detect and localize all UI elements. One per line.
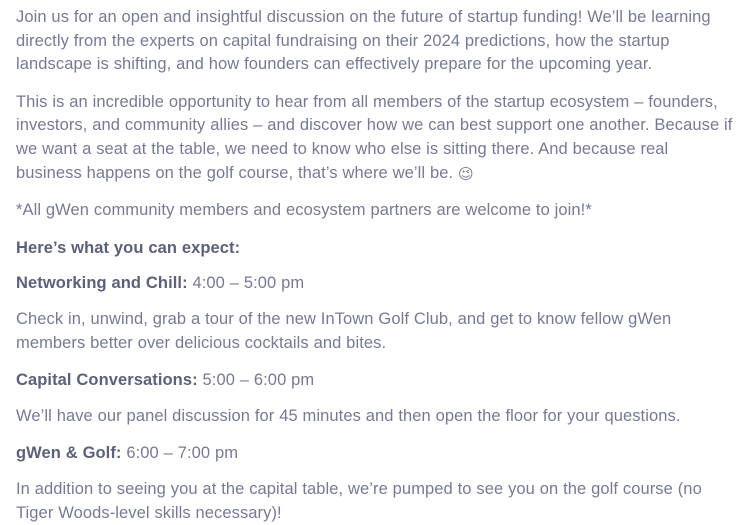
agenda-item-networking-time: 4:00 – 5:00 pm — [188, 274, 305, 292]
agenda-detail-golf: In addition to seeing you at the capital… — [16, 478, 734, 525]
paragraph-intro-text: Join us for an open and insightful discu… — [16, 8, 711, 73]
agenda-item-golf-time: 6:00 – 7:00 pm — [122, 444, 239, 462]
agenda-detail-golf-text: In addition to seeing you at the capital… — [16, 480, 702, 522]
agenda-item-networking-and-chill: Networking and Chill: 4:00 – 5:00 pm — [16, 272, 734, 296]
heading-what-to-expect-text: Here’s what you can expect: — [16, 239, 240, 257]
paragraph-intro: Join us for an open and insightful discu… — [16, 6, 734, 77]
agenda-item-golf-label: gWen & Golf: — [16, 444, 122, 462]
agenda-item-capital-label: Capital Conversations: — [16, 371, 198, 389]
welcome-note-text: *All gWen community members and ecosyste… — [16, 201, 592, 219]
agenda-item-capital-time: 5:00 – 6:00 pm — [198, 371, 315, 389]
paragraph-opportunity: This is an incredible opportunity to hea… — [16, 91, 734, 185]
agenda-item-networking-label: Networking and Chill: — [16, 274, 188, 292]
winking-face-emoji: 😉 — [458, 165, 474, 183]
agenda-detail-capital-text: We’ll have our panel discussion for 45 m… — [16, 407, 681, 425]
agenda-item-gwen-and-golf: gWen & Golf: 6:00 – 7:00 pm — [16, 442, 734, 466]
heading-what-to-expect: Here’s what you can expect: — [16, 237, 734, 261]
event-description-body: Join us for an open and insightful discu… — [0, 0, 746, 520]
agenda-item-capital-conversations: Capital Conversations: 5:00 – 6:00 pm — [16, 369, 734, 393]
paragraph-opportunity-text: This is an incredible opportunity to hea… — [16, 93, 732, 182]
agenda-detail-networking-text: Check in, unwind, grab a tour of the new… — [16, 310, 671, 352]
agenda-detail-networking: Check in, unwind, grab a tour of the new… — [16, 308, 734, 355]
agenda-detail-capital: We’ll have our panel discussion for 45 m… — [16, 405, 734, 429]
paragraph-welcome-note: *All gWen community members and ecosyste… — [16, 199, 734, 223]
